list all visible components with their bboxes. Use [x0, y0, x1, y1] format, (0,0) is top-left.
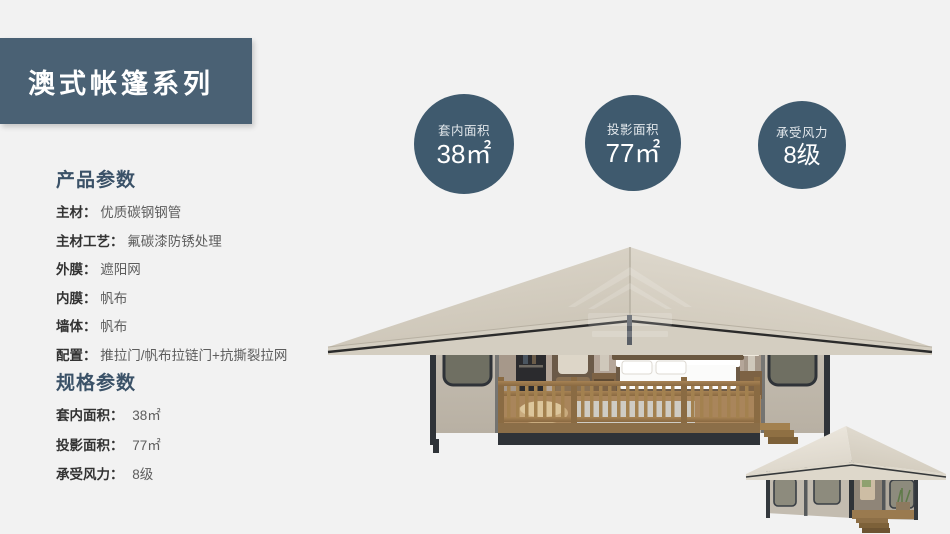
stat-badge-label: 套内面积 — [438, 120, 490, 139]
spec-key: 投影面积： — [56, 438, 124, 453]
page-title: 澳式帐篷系列 — [28, 62, 214, 101]
param-value: 遮阳网 — [100, 262, 141, 277]
param-key: 主材工艺： — [56, 234, 124, 249]
param-key: 墙体： — [56, 319, 97, 334]
spec-params-section: 规格参数 套内面积： 38㎡ 投影面积： 77㎡ 承受风力： 8级 — [56, 368, 161, 498]
param-key: 内膜： — [56, 291, 97, 306]
spec-value: 8级 — [127, 467, 153, 482]
param-row: 主材： 优质碳钢钢管 — [56, 206, 287, 220]
title-banner: 澳式帐篷系列 — [0, 38, 252, 124]
param-row: 外膜： 遮阳网 — [56, 263, 287, 277]
product-params-heading: 产品参数 — [56, 165, 287, 192]
param-value: 优质碳钢钢管 — [100, 205, 181, 220]
param-row: 墙体： 帆布 — [56, 320, 287, 334]
stat-badge-label: 承受风力 — [776, 122, 828, 141]
param-row: 内膜： 帆布 — [56, 292, 287, 306]
param-row: 主材工艺： 氟碳漆防锈处理 — [56, 235, 287, 249]
spec-value: 38㎡ — [127, 408, 161, 423]
slide-canvas: 澳式帐篷系列 产品参数 主材： 优质碳钢钢管 主材工艺： 氟碳漆防锈处理 外膜：… — [0, 0, 950, 534]
spec-value: 77㎡ — [127, 438, 161, 453]
param-row: 配置： 推拉门/帆布拉链门+抗撕裂拉网 — [56, 349, 287, 363]
param-key: 外膜： — [56, 262, 97, 277]
param-key: 配置： — [56, 348, 97, 363]
spec-row: 投影面积： 77㎡ — [56, 439, 161, 453]
param-value: 帆布 — [100, 319, 127, 334]
param-value: 氟碳漆防锈处理 — [127, 234, 222, 249]
spec-row: 套内面积： 38㎡ — [56, 409, 161, 423]
spec-params-heading: 规格参数 — [56, 368, 161, 395]
stat-badge-value: 8级 — [783, 143, 820, 168]
param-value: 推拉门/帆布拉链门+抗撕裂拉网 — [100, 348, 287, 363]
spec-row: 承受风力： 8级 — [56, 468, 161, 482]
spec-key: 套内面积： — [56, 408, 124, 423]
stat-badge-projected-area: 投影面积 77㎡ — [585, 95, 681, 191]
spec-key: 承受风力： — [56, 467, 124, 482]
deck-base — [498, 431, 760, 445]
stat-badge-label: 投影面积 — [607, 119, 659, 138]
stat-badge-value: 77㎡ — [606, 140, 661, 167]
product-params-section: 产品参数 主材： 优质碳钢钢管 主材工艺： 氟碳漆防锈处理 外膜： 遮阳网 内膜… — [56, 165, 287, 377]
param-value: 帆布 — [100, 291, 127, 306]
deck-railing — [498, 377, 760, 423]
param-key: 主材： — [56, 205, 97, 220]
stat-badge-interior-area: 套内面积 38㎡ — [414, 94, 514, 194]
stat-badge-wind-resistance: 承受风力 8级 — [758, 101, 846, 189]
stat-badge-value: 38㎡ — [437, 141, 492, 168]
tent-secondary-illustration — [742, 418, 950, 534]
